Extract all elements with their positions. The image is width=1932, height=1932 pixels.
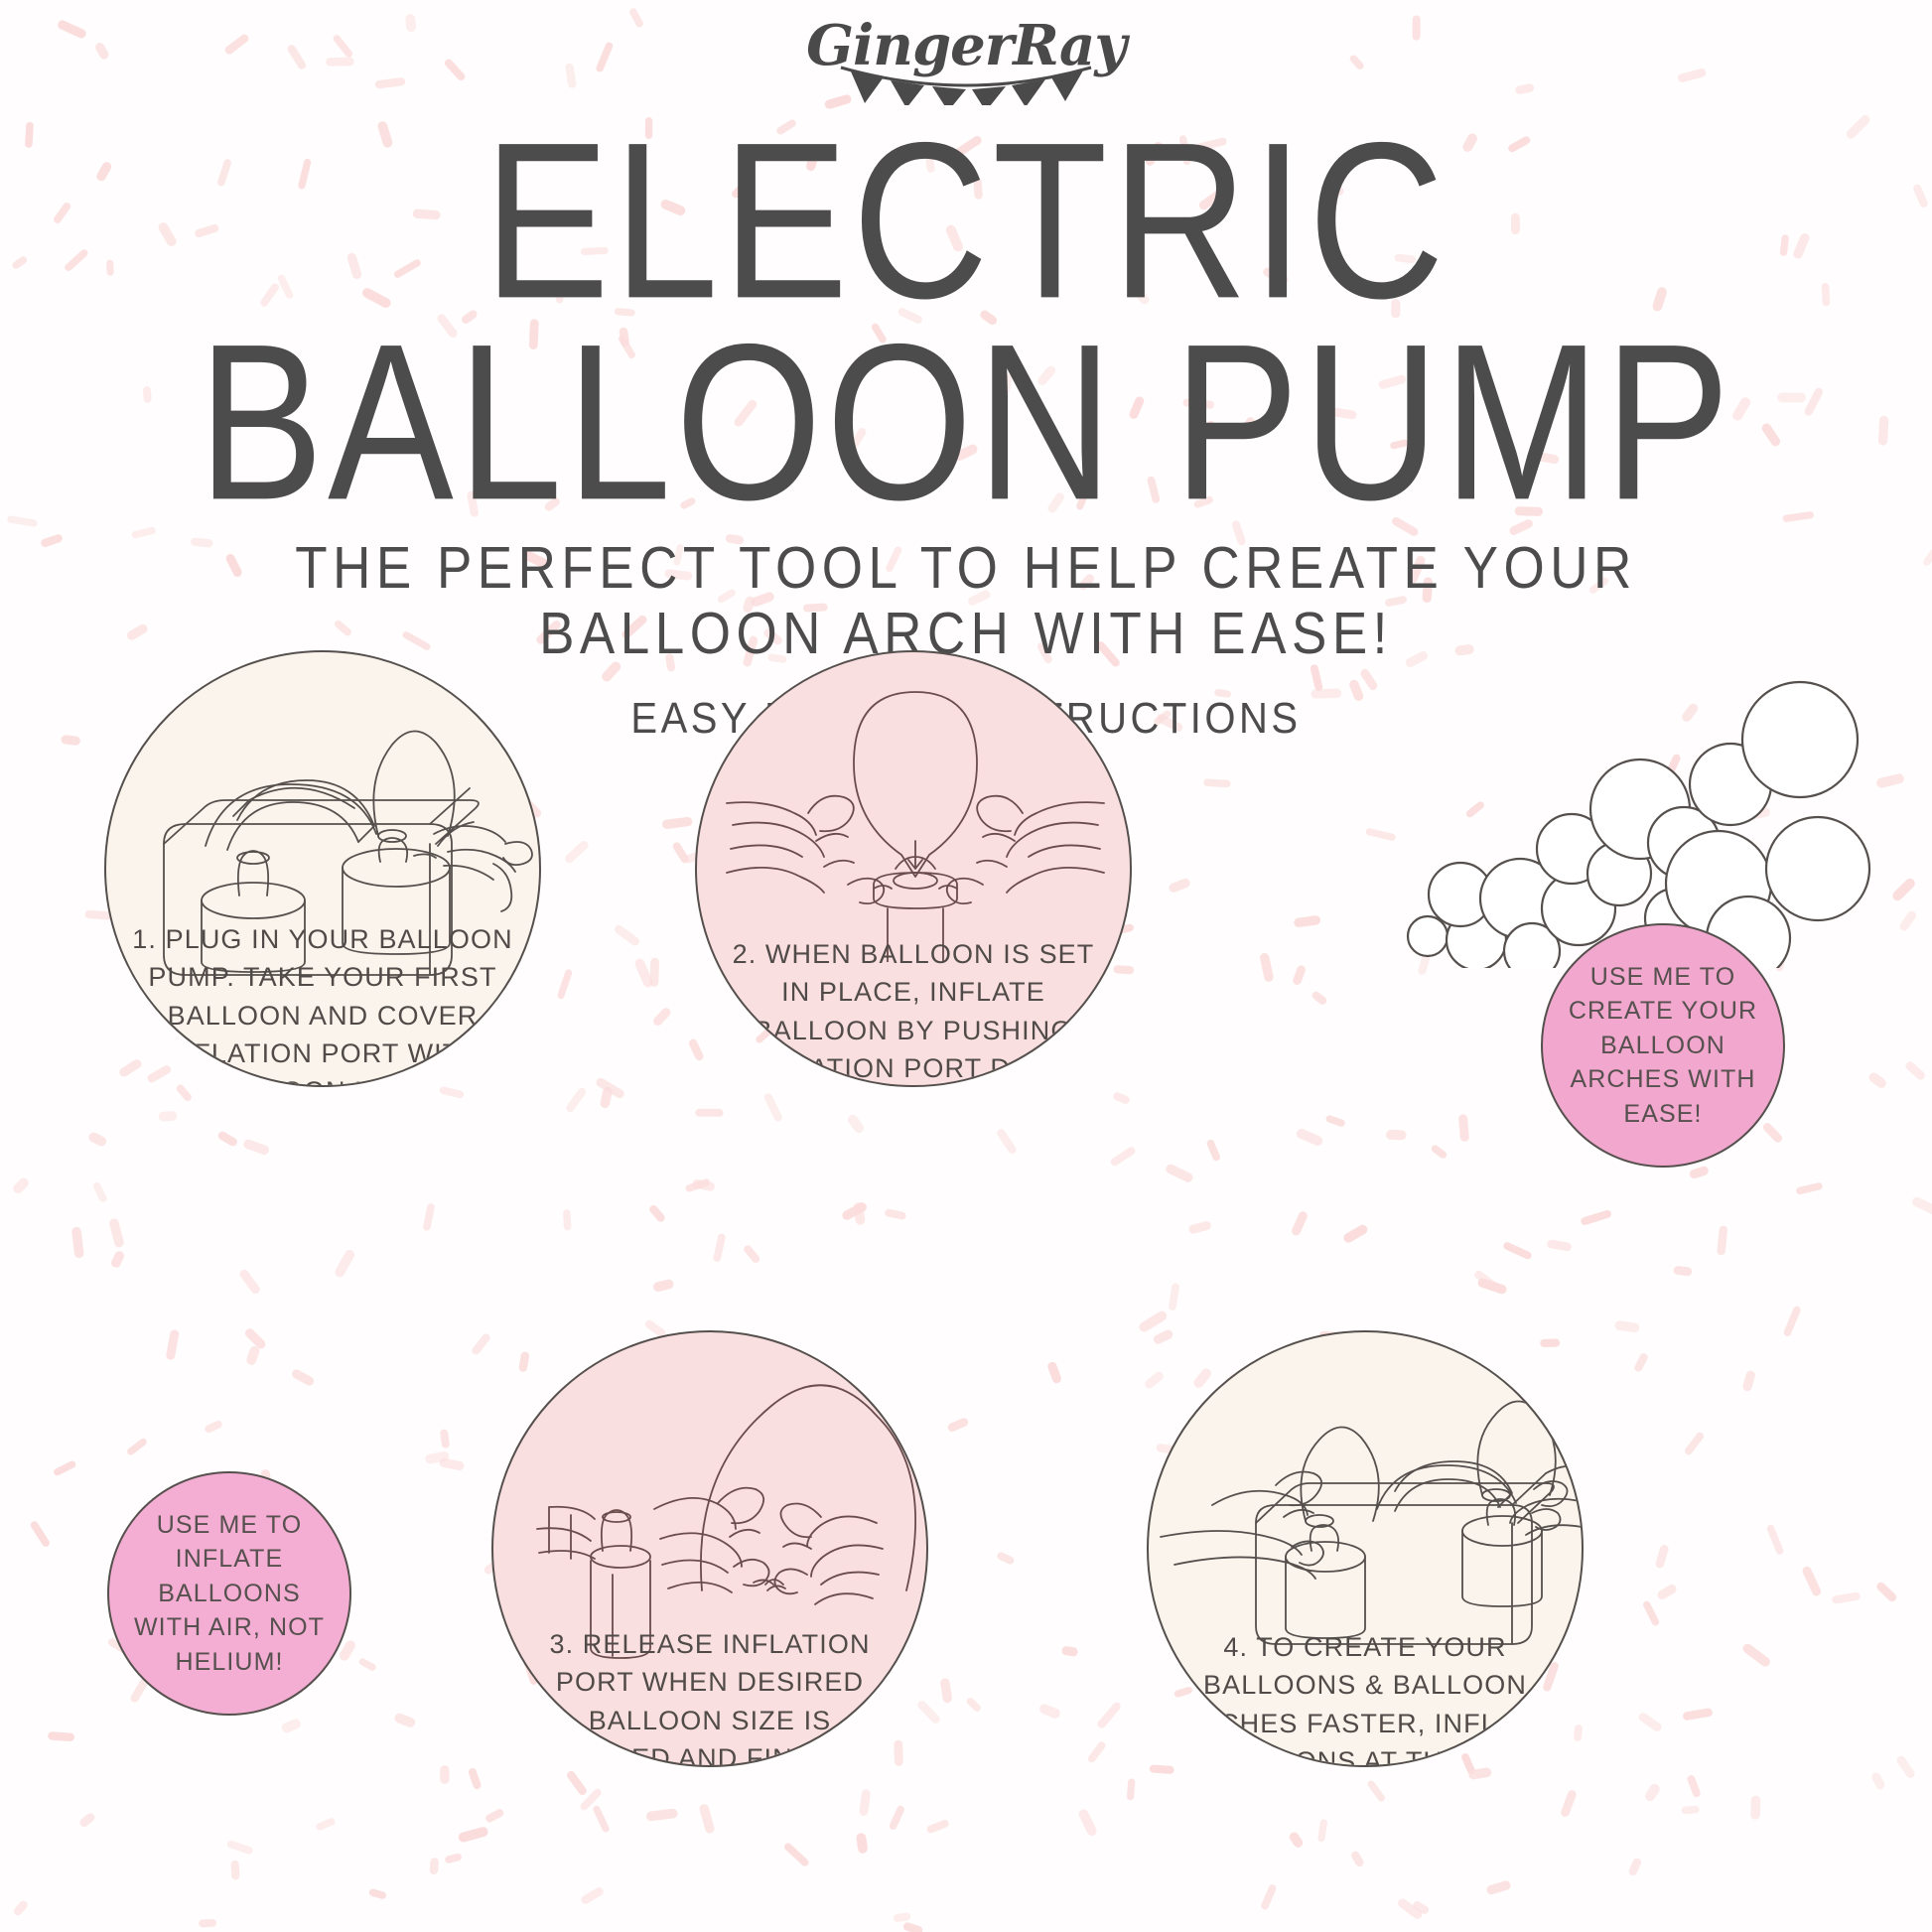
- hands-pushing-inflation-port-icon: [697, 674, 1132, 962]
- step-2-caption: 2. WHEN BALLOON IS SET IN PLACE, INFLATE…: [723, 935, 1104, 1087]
- pump-two-balloons-icon: [1149, 1362, 1584, 1660]
- step-3-circle: 3. RELEASE INFLATION PORT WHEN DESIRED B…: [491, 1330, 928, 1767]
- infographic-page: GingerRay ELECTRIC BALLOON PUMP THE PERF…: [0, 0, 1932, 1932]
- step-2-circle: 2. WHEN BALLOON IS SET IN PLACE, INFLATE…: [695, 650, 1132, 1087]
- subtitle-line-1: THE PERFECT TOOL TO HELP CREATE YOUR: [0, 532, 1932, 606]
- page-title: ELECTRIC BALLOON PUMP: [0, 119, 1932, 494]
- helium-badge: USE ME TO INFLATE BALLOONS WITH AIR, NOT…: [107, 1471, 351, 1716]
- balloon-arch-cluster-icon: [1405, 621, 1921, 968]
- title-line-1: ELECTRIC: [0, 119, 1932, 324]
- step-1-circle: 1. PLUG IN YOUR BALLOON PUMP. TAKE YOUR …: [104, 650, 541, 1087]
- step-4-caption: 4. TO CREATE YOUR BALLOONS & BALLOON ARC…: [1174, 1628, 1556, 1767]
- title-line-2: BALLOON PUMP: [0, 321, 1932, 525]
- step-4-circle: 4. TO CREATE YOUR BALLOONS & BALLOON ARC…: [1147, 1330, 1584, 1767]
- arches-badge: USE ME TO CREATE YOUR BALLOON ARCHES WIT…: [1541, 923, 1785, 1168]
- helium-badge-text: USE ME TO INFLATE BALLOONS WITH AIR, NOT…: [109, 1508, 349, 1680]
- step-1-caption: 1. PLUG IN YOUR BALLOON PUMP. TAKE YOUR …: [132, 920, 513, 1087]
- hands-tying-balloon-icon: [493, 1362, 928, 1660]
- arches-badge-text: USE ME TO CREATE YOUR BALLOON ARCHES WIT…: [1543, 960, 1783, 1132]
- step-3-caption: 3. RELEASE INFLATION PORT WHEN DESIRED B…: [519, 1625, 900, 1767]
